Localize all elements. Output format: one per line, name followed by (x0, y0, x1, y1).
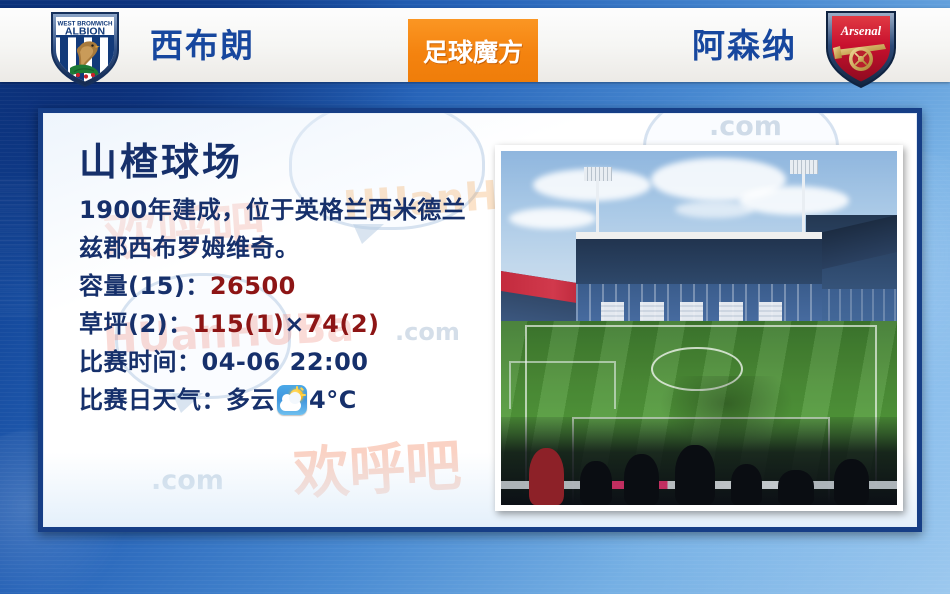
photo-spectator (778, 470, 814, 505)
away-team-crest-icon[interactable]: Arsenal (818, 4, 904, 90)
kickoff-row: 比赛时间：04-06 22:00 (79, 343, 499, 381)
photo-spectator (624, 454, 660, 505)
svg-text:Arsenal: Arsenal (840, 24, 882, 38)
watermark-domain-3: .com (709, 111, 782, 142)
pitch-label: 草坪(2) (79, 310, 168, 338)
photo-cloud-5 (675, 201, 754, 219)
weather-label: 比赛日天气 (79, 381, 202, 419)
partly-cloudy-icon (277, 385, 307, 415)
home-team-crest-icon[interactable]: WEST BROMWICH ALBION (42, 4, 128, 90)
away-team-name: 阿森纳 (692, 28, 797, 64)
photo-spectator (580, 461, 612, 505)
pitch-times-symbol: × (284, 310, 305, 338)
watermark-latin-3: HUanHUBa (682, 108, 917, 119)
photo-cloud-4 (509, 208, 596, 229)
weather-row: 比赛日天气：多云 4°C (79, 381, 499, 419)
match-header-bar: 西布朗 足球魔方 阿森纳 (0, 8, 950, 82)
photo-cloud-3 (739, 186, 850, 214)
temperature-value: 4°C (309, 381, 357, 419)
stadium-info-block: 山楂球场 1900年建成，位于英格兰西米德兰兹郡西布罗姆维奇。 容量(15)：2… (79, 139, 499, 419)
capacity-label: 容量(15) (79, 272, 185, 300)
stadium-photo-frame[interactable] (495, 145, 903, 511)
watermark-cn-2: 欢呼吧 (291, 421, 463, 511)
photo-spectator (529, 448, 565, 505)
photo-spectator (675, 445, 715, 505)
weather-condition: 多云 (226, 381, 275, 419)
pitch-length-value: 115(1) (193, 310, 285, 338)
photo-spectator (731, 464, 763, 505)
svg-text:ALBION: ALBION (65, 26, 105, 38)
watermark-domain-1: .com (151, 465, 224, 496)
pitch-separator: ： (168, 310, 193, 338)
kickoff-separator: ： (177, 348, 202, 376)
weather-separator: ： (202, 381, 227, 419)
photo-goalpost (509, 361, 616, 409)
capacity-value: 26500 (210, 272, 296, 300)
photo-foreground-crowd (501, 417, 897, 506)
site-logo-label: 足球魔方 (423, 33, 523, 69)
stadium-photo (501, 151, 897, 505)
page-root: 西布朗 足球魔方 阿森纳 (0, 0, 950, 594)
stadium-title: 山楂球场 (79, 139, 499, 185)
capacity-row: 容量(15)：26500 (79, 267, 499, 305)
home-team-name: 西布朗 (150, 28, 255, 64)
capacity-separator: ： (185, 272, 210, 300)
site-logo[interactable]: 足球魔方 (408, 19, 538, 82)
pitch-row: 草坪(2)：115(1)×74(2) (79, 305, 499, 343)
photo-stand-main (576, 232, 822, 331)
photo-spectator (834, 459, 870, 505)
stadium-description: 1900年建成，位于英格兰西米德兰兹郡西布罗姆维奇。 (79, 191, 487, 267)
kickoff-value: 04-06 22:00 (202, 348, 369, 376)
stadium-info-card: HUanHUBa .com HUanHUBa .com 欢呼吧 欢呼吧 .com… (38, 108, 922, 532)
kickoff-label: 比赛时间 (79, 348, 177, 376)
pitch-width-value: 74(2) (305, 310, 380, 338)
